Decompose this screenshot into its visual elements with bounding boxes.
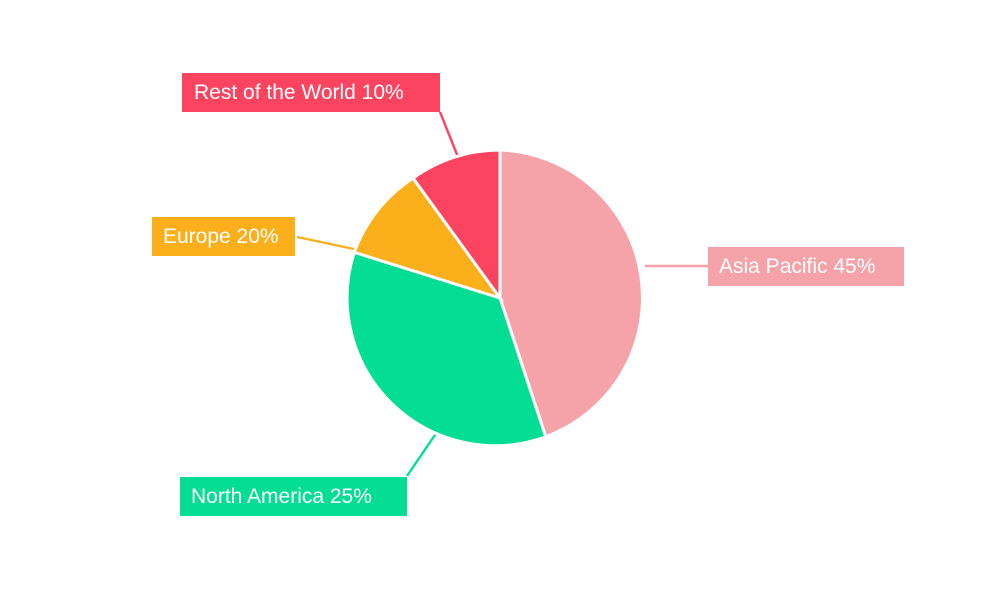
leader-line-north-america <box>407 432 437 476</box>
data-label-north-america[interactable]: North America 25% <box>180 477 407 516</box>
data-label-asia-pacific-text: Asia Pacific 45% <box>719 255 875 278</box>
data-label-rest-of-world[interactable]: Rest of the World 10% <box>182 73 440 112</box>
data-label-north-america-text: North America 25% <box>191 485 372 508</box>
data-label-asia-pacific[interactable]: Asia Pacific 45% <box>708 247 904 286</box>
data-label-europe-text: Europe 20% <box>163 225 279 248</box>
data-label-rest-of-world-text: Rest of the World 10% <box>194 81 404 104</box>
chart-canvas: Rest of the World 10% Europe 20% North A… <box>0 0 1000 600</box>
pie-chart-figure: Rest of the World 10% Europe 20% North A… <box>0 0 1000 600</box>
data-label-europe[interactable]: Europe 20% <box>152 217 295 256</box>
